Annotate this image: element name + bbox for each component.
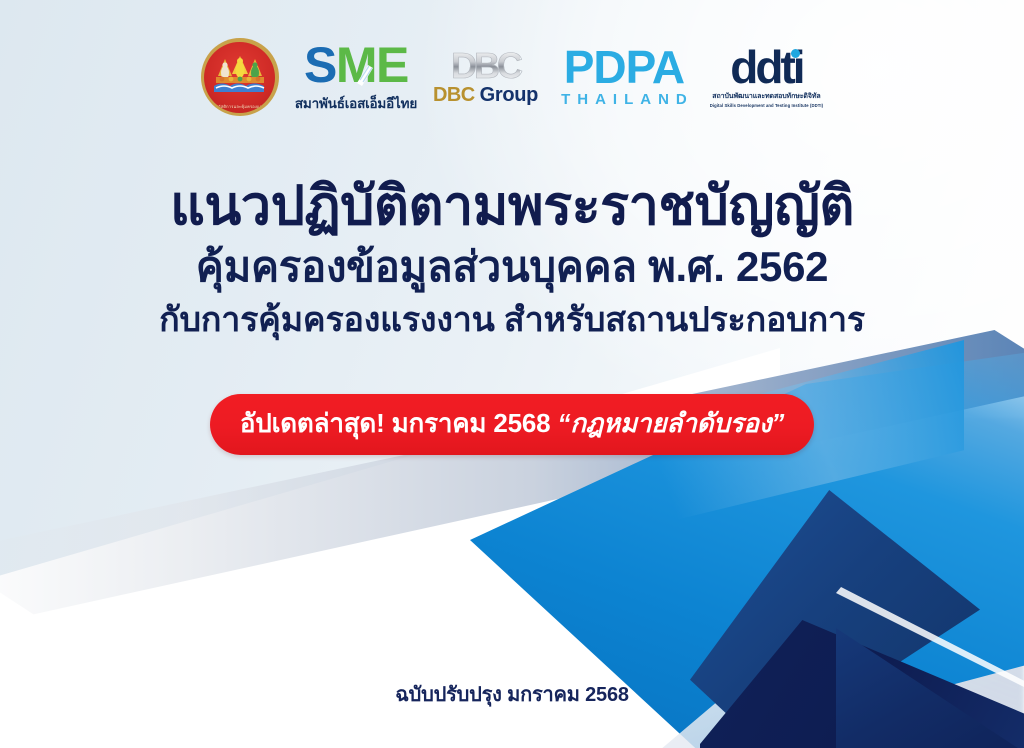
- sme-wordmark: S M E: [304, 40, 408, 90]
- seal-arc-text: กรมสวัสดิการและคุ้มครองแรงงาน: [204, 103, 275, 110]
- pdpa-logo: PDPA THAILAND: [554, 44, 694, 108]
- seal-figures-icon: [212, 54, 268, 94]
- title-line-2: คุ้มครองข้อมูลส่วนบุคคล พ.ศ. 2562: [0, 242, 1024, 292]
- dbc-wordmark: DBC: [451, 48, 520, 84]
- dbc-subtitle: DBC Group: [433, 85, 538, 105]
- badge-main-text: อัปเดตล่าสุด! มกราคม 2568: [240, 403, 551, 444]
- ddti-dot-icon: [791, 49, 800, 58]
- pdpa-wordmark: PDPA: [564, 44, 684, 90]
- sme-letter-s: S: [304, 40, 336, 90]
- ddti-subtitle-english: Digital Skills Development and Testing I…: [710, 103, 823, 108]
- sme-letter-m: M: [336, 40, 376, 90]
- cover-page: กรมสวัสดิการและคุ้มครองแรงงาน S M E สมาพ…: [0, 0, 1024, 748]
- title-line-3: กับการคุ้มครองแรงงาน สำหรับสถานประกอบการ: [0, 300, 1024, 341]
- dbc-logo: DBC DBC Group: [433, 48, 538, 105]
- badge-quote-text: “กฎหมายลำดับรอง”: [557, 403, 784, 444]
- footer-revision-text: ฉบับปรับปรุง มกราคม 2568: [0, 678, 1024, 710]
- sme-subtitle: สมาพันธ์เอสเอ็มอีไทย: [295, 92, 417, 114]
- sme-logo: S M E สมาพันธ์เอสเอ็มอีไทย: [295, 40, 417, 114]
- update-badge-container: อัปเดตล่าสุด! มกราคม 2568 “กฎหมายลำดับรอ…: [0, 394, 1024, 455]
- ddti-logo: ddti สถาบันพัฒนาและทดสอบทักษะดิจิทัล Dig…: [710, 44, 823, 108]
- ddti-wordmark: ddti: [730, 44, 802, 90]
- dbc-subtitle-group: Group: [480, 85, 539, 105]
- title-line-1: แนวปฏิบัติตามพระราชบัญญัติ: [0, 176, 1024, 236]
- pdpa-subtitle: THAILAND: [554, 91, 694, 108]
- ministry-of-labour-seal-icon: กรมสวัสดิการและคุ้มครองแรงงาน: [201, 38, 279, 116]
- sme-brush-icon: [355, 61, 375, 87]
- dbc-subtitle-abbr: DBC: [433, 85, 475, 105]
- logo-row: กรมสวัสดิการและคุ้มครองแรงงาน S M E สมาพ…: [0, 34, 1024, 120]
- status-badge: อัปเดตล่าสุด! มกราคม 2568 “กฎหมายลำดับรอ…: [210, 394, 814, 455]
- page-title: แนวปฏิบัติตามพระราชบัญญัติ คุ้มครองข้อมู…: [0, 176, 1024, 341]
- sme-letter-e: E: [376, 40, 408, 90]
